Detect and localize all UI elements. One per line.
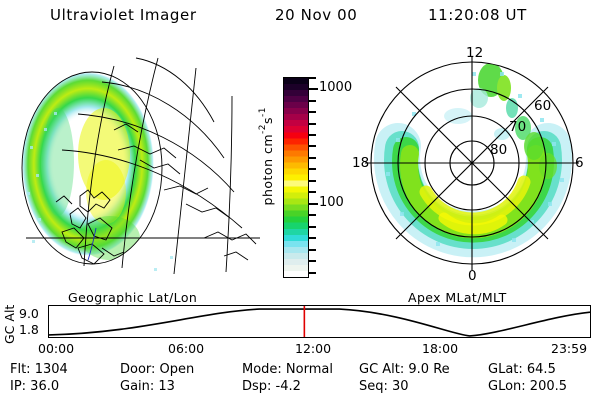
- mlat-label-70: 70: [509, 119, 526, 135]
- orbit-y-tick-high: 9.0: [19, 306, 39, 321]
- mlt-label-18: 18: [352, 155, 369, 171]
- orbit-altitude-plot[interactable]: [48, 305, 591, 338]
- colorbar-minor-tick: [309, 237, 316, 239]
- colorbar-minor-tick: [309, 191, 316, 193]
- orbit-x-tick-0000: 00:00: [38, 341, 74, 356]
- status-field-ip: IP: 36.0: [10, 379, 120, 394]
- polar-aurora-plot: [352, 42, 592, 288]
- uvi-display-window: Ultraviolet Imager 20 Nov 00 11:20:08 UT: [0, 0, 600, 400]
- colorbar-major-tick: [309, 88, 318, 90]
- colorbar-axis-title: photon cm-2s-1: [258, 107, 274, 205]
- status-field-mode: Mode: Normal: [242, 362, 359, 377]
- orbit-altitude-track: [49, 306, 590, 337]
- status-field-door: Door: Open: [120, 362, 242, 377]
- mlt-label-12: 12: [466, 45, 483, 61]
- status-field-dsp: Dsp: -4.2: [242, 379, 359, 394]
- colorbar-major-tick: [309, 203, 318, 205]
- colorbar-minor-tick: [309, 77, 316, 79]
- colorbar-minor-tick: [309, 180, 316, 182]
- colorbar-gradient: [284, 78, 308, 277]
- colorbar-tick-label-1000: 1000: [319, 80, 352, 95]
- colorbar-minor-tick: [309, 145, 316, 147]
- orbit-y-tick-low: 1.8: [19, 322, 39, 337]
- geographic-image-panel[interactable]: [18, 42, 266, 288]
- polar-image-panel[interactable]: [352, 42, 592, 288]
- instrument-title: Ultraviolet Imager: [50, 6, 197, 24]
- status-row: Flt: 1304Door: OpenMode: NormalGC Alt: 9…: [10, 362, 556, 377]
- colorbar-minor-tick: [309, 249, 316, 251]
- colorbar-minor-tick: [309, 100, 316, 102]
- colorbar-minor-tick: [309, 168, 316, 170]
- orbit-x-tick-1800: 18:00: [422, 341, 458, 356]
- mlt-label-6: 6: [575, 155, 584, 171]
- colorbar-tick-label-100: 100: [319, 195, 344, 210]
- orbit-x-tick-2359: 23:59: [551, 341, 587, 356]
- observation-time: 11:20:08 UT: [428, 6, 527, 24]
- colorbar[interactable]: [283, 77, 309, 278]
- polar-panel-caption: Apex MLat/MLT: [408, 290, 507, 305]
- status-field-glat: GLat: 64.5: [488, 362, 556, 377]
- colorbar-minor-tick: [309, 272, 316, 274]
- mlt-label-0: 0: [468, 268, 477, 284]
- mlat-label-60: 60: [534, 98, 551, 114]
- observation-date: 20 Nov 00: [275, 6, 357, 24]
- colorbar-minor-tick: [309, 123, 316, 125]
- orbit-x-tick-0600: 06:00: [168, 341, 204, 356]
- orbit-x-tick-1200: 12:00: [295, 341, 331, 356]
- colorbar-minor-tick: [309, 157, 316, 159]
- status-field-gain: Gain: 13: [120, 379, 242, 394]
- orbit-y-axis-label: GC Alt: [2, 300, 16, 344]
- geographic-panel-caption: Geographic Lat/Lon: [68, 290, 197, 305]
- status-field-gc-alt: GC Alt: 9.0 Re: [359, 362, 488, 377]
- status-field-flt: Flt: 1304: [10, 362, 120, 377]
- colorbar-minor-tick: [309, 134, 316, 136]
- mlat-label-80: 80: [490, 142, 507, 158]
- colorbar-minor-tick: [309, 111, 316, 113]
- geographic-aurora-plot: [18, 42, 266, 288]
- status-field-glon: GLon: 200.5: [488, 379, 567, 394]
- status-row: IP: 36.0Gain: 13Dsp: -4.2Seq: 30GLon: 20…: [10, 379, 567, 394]
- colorbar-minor-tick: [309, 214, 316, 216]
- colorbar-minor-tick: [309, 226, 316, 228]
- status-field-seq: Seq: 30: [359, 379, 488, 394]
- colorbar-minor-tick: [309, 260, 316, 262]
